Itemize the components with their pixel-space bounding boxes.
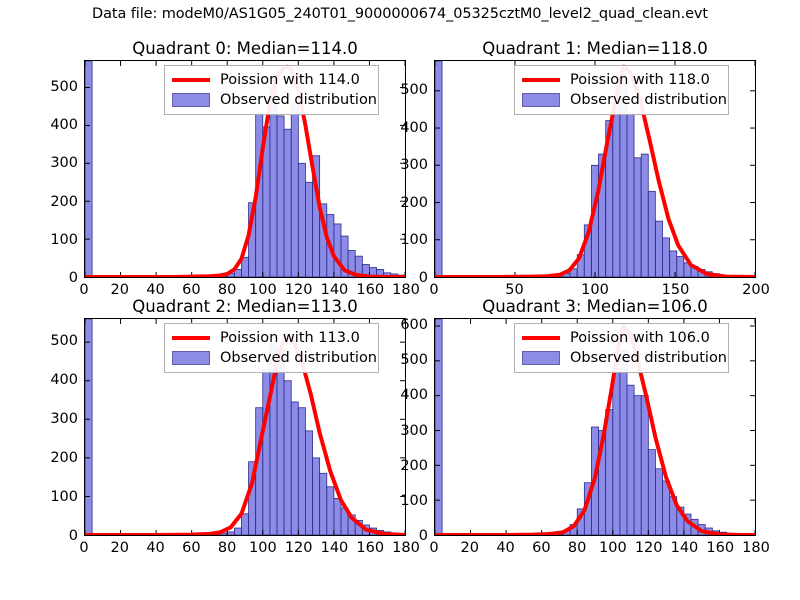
histogram-bar bbox=[655, 221, 662, 277]
histogram-bar bbox=[320, 473, 327, 535]
y-tick-label: 500 bbox=[400, 352, 428, 368]
histogram-bar bbox=[85, 319, 92, 535]
histogram-bar bbox=[305, 431, 312, 535]
x-tick-label: 0 bbox=[429, 282, 438, 298]
x-tick-label: 120 bbox=[635, 540, 663, 556]
y-tick-label: 500 bbox=[50, 333, 78, 349]
legend-entry-observed: Observed distribution bbox=[170, 90, 372, 110]
subplot-quadrant-3: Quadrant 3: Median=106.0 Poission with 1… bbox=[434, 318, 756, 536]
legend-line-icon bbox=[520, 72, 562, 88]
y-tick-label: 200 bbox=[400, 458, 428, 474]
histogram-bar bbox=[613, 371, 620, 535]
x-tick-label: 180 bbox=[392, 282, 420, 298]
y-tick-label: 300 bbox=[50, 411, 78, 427]
x-tick-label: 50 bbox=[505, 282, 523, 298]
histogram-bar bbox=[234, 528, 241, 535]
subplot-title-quadrant-1: Quadrant 1: Median=118.0 bbox=[434, 39, 756, 58]
figure-suptitle: Data file: modeM0/AS1G05_240T01_90000006… bbox=[0, 6, 800, 22]
x-tick-label: 0 bbox=[429, 540, 438, 556]
x-tick-label: 140 bbox=[321, 282, 349, 298]
y-tick-label: 0 bbox=[419, 270, 428, 286]
histogram-bar bbox=[641, 396, 648, 535]
y-tick-label: 200 bbox=[50, 194, 78, 210]
histogram-bar bbox=[298, 163, 305, 277]
x-tick-label: 60 bbox=[182, 540, 200, 556]
legend-line-icon bbox=[520, 330, 562, 346]
y-tick-label: 300 bbox=[400, 157, 428, 173]
y-tick-label: 100 bbox=[50, 232, 78, 248]
x-tick-label: 180 bbox=[392, 540, 420, 556]
histogram-bar bbox=[677, 257, 684, 277]
legend-patch-icon bbox=[170, 350, 212, 366]
x-tick-label: 80 bbox=[218, 282, 236, 298]
x-tick-label: 100 bbox=[581, 282, 609, 298]
histogram-bar bbox=[298, 408, 305, 535]
histogram-bar bbox=[313, 458, 320, 535]
histogram-bar bbox=[334, 498, 341, 535]
histogram-bar bbox=[613, 106, 620, 277]
subplot-title-quadrant-0: Quadrant 0: Median=114.0 bbox=[84, 39, 406, 58]
subplot-quadrant-1: Quadrant 1: Median=118.0 Poission with 1… bbox=[434, 60, 756, 278]
histogram-bar bbox=[435, 61, 442, 277]
y-tick-label: 500 bbox=[400, 82, 428, 98]
x-tick-label: 60 bbox=[532, 540, 550, 556]
y-tick-label: 500 bbox=[50, 79, 78, 95]
legend-entry-poisson: Poission with 106.0 bbox=[520, 328, 722, 348]
legend-quadrant-1: Poission with 118.0 Observed distributio… bbox=[514, 65, 729, 115]
subplot-title-quadrant-2: Quadrant 2: Median=113.0 bbox=[84, 297, 406, 316]
histogram-bar bbox=[634, 158, 641, 277]
histogram-bar bbox=[655, 469, 662, 535]
histogram-bar bbox=[284, 129, 291, 277]
histogram-bar bbox=[334, 224, 341, 277]
matplotlib-figure: Data file: modeM0/AS1G05_240T01_90000006… bbox=[0, 0, 800, 600]
histogram-bar bbox=[85, 61, 92, 277]
x-tick-label: 20 bbox=[111, 540, 129, 556]
y-tick-label: 100 bbox=[400, 493, 428, 509]
legend-label-observed: Observed distribution bbox=[220, 90, 377, 110]
x-tick-label: 40 bbox=[146, 282, 164, 298]
x-tick-label: 100 bbox=[249, 540, 277, 556]
x-tick-label: 120 bbox=[285, 282, 313, 298]
x-tick-label: 0 bbox=[79, 540, 88, 556]
y-tick-label: 100 bbox=[400, 232, 428, 248]
y-tick-label: 0 bbox=[419, 528, 428, 544]
y-tick-label: 0 bbox=[69, 528, 78, 544]
legend-label-observed: Observed distribution bbox=[570, 348, 727, 368]
x-tick-label: 140 bbox=[671, 540, 699, 556]
legend-label-poisson: Poission with 113.0 bbox=[220, 328, 360, 348]
x-tick-label: 120 bbox=[285, 540, 313, 556]
x-tick-label: 80 bbox=[568, 540, 586, 556]
legend-entry-observed: Observed distribution bbox=[170, 348, 372, 368]
x-tick-label: 80 bbox=[218, 540, 236, 556]
x-tick-label: 100 bbox=[249, 282, 277, 298]
legend-label-poisson: Poission with 114.0 bbox=[220, 70, 360, 90]
x-tick-label: 160 bbox=[706, 540, 734, 556]
y-tick-label: 300 bbox=[50, 155, 78, 171]
histogram-bar bbox=[435, 319, 442, 535]
legend-quadrant-0: Poission with 114.0 Observed distributio… bbox=[164, 65, 379, 115]
y-tick-label: 400 bbox=[400, 120, 428, 136]
y-tick-label: 400 bbox=[50, 372, 78, 388]
legend-label-poisson: Poission with 118.0 bbox=[570, 70, 710, 90]
y-tick-label: 100 bbox=[50, 489, 78, 505]
histogram-bar bbox=[620, 350, 627, 535]
y-tick-label: 200 bbox=[50, 450, 78, 466]
histogram-bar bbox=[291, 103, 298, 277]
legend-quadrant-3: Poission with 106.0 Observed distributio… bbox=[514, 323, 729, 373]
x-tick-label: 20 bbox=[461, 540, 479, 556]
x-tick-label: 160 bbox=[356, 540, 384, 556]
x-tick-label: 40 bbox=[146, 540, 164, 556]
subplot-quadrant-2: Quadrant 2: Median=113.0 Poission with 1… bbox=[84, 318, 406, 536]
histogram-bar bbox=[241, 514, 248, 535]
x-tick-label: 20 bbox=[111, 282, 129, 298]
legend-quadrant-2: Poission with 113.0 Observed distributio… bbox=[164, 323, 379, 373]
histogram-bar bbox=[305, 182, 312, 277]
histogram-bar bbox=[277, 116, 284, 277]
histogram-bar bbox=[670, 251, 677, 277]
y-tick-label: 200 bbox=[400, 195, 428, 211]
x-tick-label: 200 bbox=[742, 282, 770, 298]
legend-entry-observed: Observed distribution bbox=[520, 348, 722, 368]
legend-line-icon bbox=[170, 72, 212, 88]
x-tick-label: 40 bbox=[496, 540, 514, 556]
legend-entry-poisson: Poission with 118.0 bbox=[520, 70, 722, 90]
legend-entry-poisson: Poission with 114.0 bbox=[170, 70, 372, 90]
histogram-bar bbox=[277, 350, 284, 535]
subplot-title-quadrant-3: Quadrant 3: Median=106.0 bbox=[434, 297, 756, 316]
histogram-bar bbox=[627, 385, 634, 535]
histogram-bar bbox=[327, 487, 334, 535]
y-tick-label: 0 bbox=[69, 270, 78, 286]
legend-label-observed: Observed distribution bbox=[220, 348, 377, 368]
histogram-bar bbox=[227, 532, 234, 535]
histogram-bar bbox=[291, 402, 298, 535]
histogram-bar bbox=[663, 238, 670, 277]
x-tick-label: 150 bbox=[662, 282, 690, 298]
histogram-bar bbox=[284, 381, 291, 535]
histogram-bar bbox=[270, 88, 277, 277]
x-tick-label: 160 bbox=[356, 282, 384, 298]
legend-label-poisson: Poission with 106.0 bbox=[570, 328, 710, 348]
legend-patch-icon bbox=[170, 92, 212, 108]
x-tick-label: 100 bbox=[599, 540, 627, 556]
legend-patch-icon bbox=[520, 92, 562, 108]
y-tick-label: 300 bbox=[400, 423, 428, 439]
y-tick-label: 600 bbox=[400, 317, 428, 333]
histogram-bar bbox=[641, 154, 648, 277]
subplot-quadrant-0: Quadrant 0: Median=114.0 Poission with 1… bbox=[84, 60, 406, 278]
histogram-bar bbox=[648, 191, 655, 277]
histogram-bar bbox=[634, 396, 641, 535]
legend-patch-icon bbox=[520, 350, 562, 366]
y-tick-label: 400 bbox=[400, 387, 428, 403]
histogram-bar bbox=[648, 450, 655, 535]
x-tick-label: 0 bbox=[79, 282, 88, 298]
legend-line-icon bbox=[170, 330, 212, 346]
legend-label-observed: Observed distribution bbox=[570, 90, 727, 110]
x-tick-label: 140 bbox=[321, 540, 349, 556]
histogram-bar bbox=[627, 113, 634, 277]
legend-entry-observed: Observed distribution bbox=[520, 90, 722, 110]
legend-entry-poisson: Poission with 113.0 bbox=[170, 328, 372, 348]
y-tick-label: 400 bbox=[50, 117, 78, 133]
x-tick-label: 60 bbox=[182, 282, 200, 298]
x-tick-label: 180 bbox=[742, 540, 770, 556]
